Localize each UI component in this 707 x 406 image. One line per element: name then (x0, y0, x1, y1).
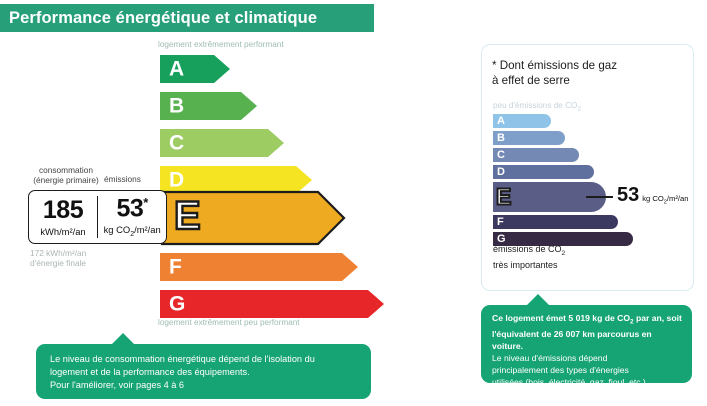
callout-right-line3: utilisées (bois, électricité, gaz, fioul… (492, 377, 646, 387)
ges-leader-line (586, 196, 613, 198)
ges-bar-d: D (493, 165, 594, 179)
ges-bar-letter: B (493, 133, 505, 144)
callout-right-bold: Ce logement émet 5 019 kg de CO2 par an,… (492, 313, 682, 351)
ges-bar-letter: D (493, 167, 505, 178)
energy-band-a: A (160, 55, 230, 83)
consumption-label-line1: consommation (39, 165, 93, 175)
value-box: 185 kWh/m²/an 53* kg CO2/m²/an (28, 190, 167, 244)
energy-band-shape: B (160, 92, 257, 120)
callout-right-bold-pre: Ce logement émet 5 019 kg de CO (492, 313, 630, 323)
energy-band-c: C (160, 129, 284, 157)
consumption-value: 185 (43, 198, 83, 223)
ges-bar-b: B (493, 131, 565, 145)
ges-unit-pre: kg CO (642, 194, 664, 203)
ges-value: 53 (617, 185, 639, 205)
energy-band-g: G (160, 290, 384, 318)
energy-band-shape: A (160, 55, 230, 83)
consumption-unit: kWh/m²/an (40, 226, 85, 237)
energy-band-letter: D (169, 170, 184, 191)
callout-left-line3: Pour l'améliorer, voir pages 4 à 6 (50, 380, 184, 390)
energy-band-b: B (160, 92, 257, 120)
callout-emissions-text: Ce logement émet 5 019 kg de CO2 par an,… (481, 305, 692, 388)
energy-band-arrow-icon (160, 290, 384, 318)
ges-bar-letter: C (493, 150, 505, 161)
asterisk-marker: * (143, 195, 148, 210)
emissions-unit-post: /m²/an (134, 224, 161, 235)
ges-bar-letter: F (493, 217, 504, 228)
energy-band-letter: G (169, 294, 185, 315)
ges-caption-top-pre: peu d'émissions de CO (493, 101, 577, 110)
energy-band-shape: F (160, 253, 358, 281)
energy-band-letter: B (169, 96, 184, 117)
ges-caption-bottom-line2: très importantes (493, 260, 558, 270)
energy-band-e: E (160, 190, 342, 242)
consumption-cell: 185 kWh/m²/an (29, 191, 97, 243)
dpe-diagram: Performance énergétique et climatique lo… (0, 0, 707, 406)
energy-band-letter: A (169, 59, 184, 80)
emissions-value: 53* (116, 196, 147, 221)
ges-bar-letter: A (493, 116, 505, 127)
emissions-cell: 53* kg CO2/m²/an (98, 191, 166, 243)
energy-band-letter: C (169, 133, 184, 154)
energy-band-shape: C (160, 129, 284, 157)
energy-band-f: F (160, 253, 358, 281)
emissions-number: 53 (116, 194, 143, 222)
ges-caption-bottom-pre: émissions de CO (493, 244, 562, 254)
energy-band-arrow-icon (160, 253, 358, 281)
callout-right-line2: principalement des types d'énergies (492, 365, 629, 375)
ges-caption-bottom-sub: 2 (562, 250, 566, 257)
ges-panel: * Dont émissions de gaz à effet de serre… (481, 44, 694, 291)
emissions-label: émissions (104, 175, 164, 185)
ges-caption-top-sub: 2 (577, 106, 581, 113)
scale-caption-top: logement extrêmement performant (158, 40, 284, 49)
callout-pointer (112, 333, 134, 344)
ges-title-line2: à effet de serre (492, 74, 570, 87)
callout-consumption: Le niveau de consommation énergétique dé… (36, 344, 371, 399)
callout-emissions: Ce logement émet 5 019 kg de CO2 par an,… (481, 305, 692, 383)
scale-caption-bottom: logement extrêmement peu performant (158, 318, 300, 327)
ges-caption-top: peu d'émissions de CO2 (493, 101, 581, 113)
callout-consumption-text: Le niveau de consommation énergétique dé… (36, 344, 371, 392)
ges-caption-bottom: émissions de CO2 très importantes (493, 243, 565, 271)
ges-title-line1: * Dont émissions de gaz (492, 59, 617, 72)
ges-unit-post: /m²/an (667, 194, 689, 203)
final-energy-line2: d'énergie finale (30, 258, 86, 268)
energy-band-letter: E (174, 196, 201, 236)
callout-left-line1: Le niveau de consommation énergétique dé… (50, 354, 315, 364)
emissions-unit: kg CO2/m²/an (104, 224, 161, 238)
emissions-unit-pre: kg CO (104, 224, 131, 235)
header-bar: Performance énergétique et climatique (0, 4, 374, 32)
energy-band-shape: E (160, 190, 342, 242)
consumption-label: consommation (énergie primaire) (30, 166, 102, 186)
final-energy-line1: 172 kWh/m²/an (30, 248, 86, 258)
energy-band-shape: G (160, 290, 384, 318)
ges-unit: kg CO2/m²/an (642, 194, 688, 206)
callout-left-line2: logement et de la performance des équipe… (50, 367, 250, 377)
ges-bar-letter: E (496, 186, 511, 209)
ges-title: * Dont émissions de gaz à effet de serre (492, 58, 682, 89)
ges-bar-c: C (493, 148, 579, 162)
callout-right-line1: Le niveau d'émissions dépend (492, 353, 607, 363)
ges-bar-f: F (493, 215, 618, 229)
energy-band-letter: F (169, 257, 182, 278)
final-energy-note: 172 kWh/m²/an d'énergie finale (30, 248, 86, 269)
callout-pointer (527, 294, 549, 305)
page-title: Performance énergétique et climatique (0, 9, 317, 28)
consumption-label-line2: (énergie primaire) (33, 175, 98, 185)
ges-bar-a: A (493, 114, 551, 128)
ges-value-readout: 53 kg CO2/m²/an (617, 185, 688, 206)
